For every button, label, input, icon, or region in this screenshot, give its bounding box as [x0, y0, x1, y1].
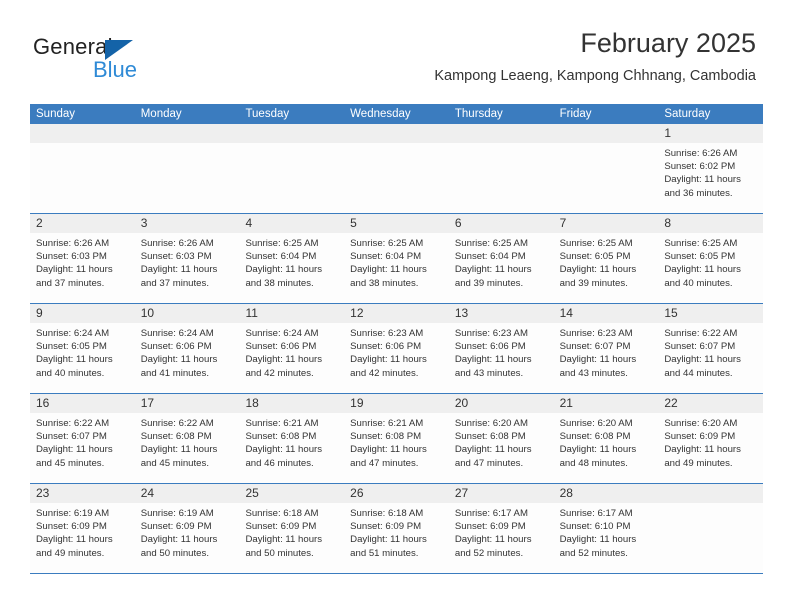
daylight-duration-line-2: and 41 minutes. [141, 367, 234, 380]
day-number: 5 [344, 214, 449, 233]
sunset-time: Sunset: 6:08 PM [560, 430, 653, 443]
day-number-band: 14 [554, 304, 659, 323]
day-number: 22 [658, 394, 763, 413]
calendar-day-cell[interactable]: 18Sunrise: 6:21 AMSunset: 6:08 PMDayligh… [239, 394, 344, 483]
calendar-day-cell[interactable]: 27Sunrise: 6:17 AMSunset: 6:09 PMDayligh… [449, 484, 554, 573]
daylight-duration-line-2: and 42 minutes. [245, 367, 338, 380]
day-number: 20 [449, 394, 554, 413]
sunset-time: Sunset: 6:09 PM [245, 520, 338, 533]
day-sun-info: Sunrise: 6:18 AMSunset: 6:09 PMDaylight:… [239, 503, 344, 560]
sunrise-time: Sunrise: 6:24 AM [36, 327, 129, 340]
day-number: 1 [658, 124, 763, 143]
calendar-day-cell[interactable]: 26Sunrise: 6:18 AMSunset: 6:09 PMDayligh… [344, 484, 449, 573]
sunrise-time: Sunrise: 6:18 AM [245, 507, 338, 520]
daylight-duration-line-1: Daylight: 11 hours [560, 533, 653, 546]
calendar-grid: Sunday Monday Tuesday Wednesday Thursday… [30, 104, 763, 574]
sunrise-time: Sunrise: 6:20 AM [664, 417, 757, 430]
calendar-week-row: 2Sunrise: 6:26 AMSunset: 6:03 PMDaylight… [30, 214, 763, 304]
sunset-time: Sunset: 6:08 PM [141, 430, 234, 443]
day-sun-info: Sunrise: 6:22 AMSunset: 6:07 PMDaylight:… [658, 323, 763, 380]
daylight-duration-line-1: Daylight: 11 hours [141, 353, 234, 366]
sunrise-time: Sunrise: 6:25 AM [560, 237, 653, 250]
day-number-band: 12 [344, 304, 449, 323]
day-number-band: 28 [554, 484, 659, 503]
day-number-band: 21 [554, 394, 659, 413]
daylight-duration-line-2: and 48 minutes. [560, 457, 653, 470]
calendar-week-row: 23Sunrise: 6:19 AMSunset: 6:09 PMDayligh… [30, 484, 763, 574]
day-number-band [554, 124, 659, 143]
day-number: 6 [449, 214, 554, 233]
sunrise-time: Sunrise: 6:22 AM [664, 327, 757, 340]
weekday-header-monday: Monday [135, 104, 240, 124]
weekday-header-wednesday: Wednesday [344, 104, 449, 124]
day-number: 23 [30, 484, 135, 503]
daylight-duration-line-1: Daylight: 11 hours [455, 263, 548, 276]
day-number: 8 [658, 214, 763, 233]
day-number-band: 15 [658, 304, 763, 323]
day-number: 26 [344, 484, 449, 503]
sunset-time: Sunset: 6:02 PM [664, 160, 757, 173]
daylight-duration-line-2: and 45 minutes. [141, 457, 234, 470]
sunrise-time: Sunrise: 6:26 AM [141, 237, 234, 250]
sunset-time: Sunset: 6:09 PM [350, 520, 443, 533]
daylight-duration-line-2: and 38 minutes. [245, 277, 338, 290]
sunset-time: Sunset: 6:07 PM [36, 430, 129, 443]
sunrise-time: Sunrise: 6:20 AM [455, 417, 548, 430]
sunset-time: Sunset: 6:03 PM [36, 250, 129, 263]
calendar-day-cell[interactable]: 5Sunrise: 6:25 AMSunset: 6:04 PMDaylight… [344, 214, 449, 303]
day-sun-info: Sunrise: 6:23 AMSunset: 6:07 PMDaylight:… [554, 323, 659, 380]
sunset-time: Sunset: 6:09 PM [141, 520, 234, 533]
day-number-band: 9 [30, 304, 135, 323]
calendar-day-cell[interactable]: 21Sunrise: 6:20 AMSunset: 6:08 PMDayligh… [554, 394, 659, 483]
daylight-duration-line-1: Daylight: 11 hours [664, 443, 757, 456]
day-number: 25 [239, 484, 344, 503]
day-sun-info: Sunrise: 6:20 AMSunset: 6:09 PMDaylight:… [658, 413, 763, 470]
page-header: General Blue February 2025 Kampong Leaen… [0, 26, 792, 98]
sunset-time: Sunset: 6:05 PM [560, 250, 653, 263]
day-number-band: 23 [30, 484, 135, 503]
day-number-band: 24 [135, 484, 240, 503]
general-blue-logo[interactable]: General Blue [33, 34, 163, 84]
daylight-duration-line-1: Daylight: 11 hours [245, 353, 338, 366]
daylight-duration-line-2: and 39 minutes. [455, 277, 548, 290]
calendar-day-cell[interactable]: 11Sunrise: 6:24 AMSunset: 6:06 PMDayligh… [239, 304, 344, 393]
day-number-band: 11 [239, 304, 344, 323]
sunset-time: Sunset: 6:09 PM [664, 430, 757, 443]
weekday-header-saturday: Saturday [658, 104, 763, 124]
calendar-day-cell[interactable]: 12Sunrise: 6:23 AMSunset: 6:06 PMDayligh… [344, 304, 449, 393]
weekday-header-row: Sunday Monday Tuesday Wednesday Thursday… [30, 104, 763, 124]
page-title: February 2025 [434, 26, 756, 60]
day-number: 3 [135, 214, 240, 233]
calendar-day-cell[interactable]: 23Sunrise: 6:19 AMSunset: 6:09 PMDayligh… [30, 484, 135, 573]
day-number: 18 [239, 394, 344, 413]
daylight-duration-line-1: Daylight: 11 hours [455, 353, 548, 366]
day-number: 21 [554, 394, 659, 413]
day-number-band: 19 [344, 394, 449, 413]
calendar-day-cell[interactable]: 9Sunrise: 6:24 AMSunset: 6:05 PMDaylight… [30, 304, 135, 393]
calendar-day-cell[interactable]: 14Sunrise: 6:23 AMSunset: 6:07 PMDayligh… [554, 304, 659, 393]
day-sun-info: Sunrise: 6:17 AMSunset: 6:10 PMDaylight:… [554, 503, 659, 560]
daylight-duration-line-2: and 39 minutes. [560, 277, 653, 290]
calendar-day-cell-empty [554, 124, 659, 213]
day-number: 14 [554, 304, 659, 323]
daylight-duration-line-2: and 47 minutes. [350, 457, 443, 470]
calendar-day-cell[interactable]: 10Sunrise: 6:24 AMSunset: 6:06 PMDayligh… [135, 304, 240, 393]
day-number-band: 26 [344, 484, 449, 503]
day-sun-info: Sunrise: 6:25 AMSunset: 6:05 PMDaylight:… [554, 233, 659, 290]
sunset-time: Sunset: 6:07 PM [664, 340, 757, 353]
day-sun-info: Sunrise: 6:17 AMSunset: 6:09 PMDaylight:… [449, 503, 554, 560]
calendar-day-cell[interactable]: 16Sunrise: 6:22 AMSunset: 6:07 PMDayligh… [30, 394, 135, 483]
sunrise-time: Sunrise: 6:25 AM [350, 237, 443, 250]
sunrise-time: Sunrise: 6:20 AM [560, 417, 653, 430]
day-number-band: 13 [449, 304, 554, 323]
calendar-week-row: 16Sunrise: 6:22 AMSunset: 6:07 PMDayligh… [30, 394, 763, 484]
calendar-day-cell[interactable]: 24Sunrise: 6:19 AMSunset: 6:09 PMDayligh… [135, 484, 240, 573]
sunrise-time: Sunrise: 6:25 AM [245, 237, 338, 250]
sunrise-time: Sunrise: 6:26 AM [664, 147, 757, 160]
sunrise-time: Sunrise: 6:21 AM [350, 417, 443, 430]
daylight-duration-line-2: and 46 minutes. [245, 457, 338, 470]
sunset-time: Sunset: 6:05 PM [664, 250, 757, 263]
day-sun-info: Sunrise: 6:23 AMSunset: 6:06 PMDaylight:… [344, 323, 449, 380]
daylight-duration-line-2: and 37 minutes. [36, 277, 129, 290]
day-number-band: 22 [658, 394, 763, 413]
weekday-header-friday: Friday [554, 104, 659, 124]
day-number-band [344, 124, 449, 143]
day-sun-info: Sunrise: 6:20 AMSunset: 6:08 PMDaylight:… [449, 413, 554, 470]
day-number-band [30, 124, 135, 143]
sunset-time: Sunset: 6:07 PM [560, 340, 653, 353]
calendar-day-cell-empty [30, 124, 135, 213]
sunset-time: Sunset: 6:09 PM [36, 520, 129, 533]
daylight-duration-line-2: and 40 minutes. [664, 277, 757, 290]
calendar-day-cell[interactable]: 15Sunrise: 6:22 AMSunset: 6:07 PMDayligh… [658, 304, 763, 393]
title-block: February 2025 Kampong Leaeng, Kampong Ch… [434, 26, 756, 85]
day-number-band: 4 [239, 214, 344, 233]
daylight-duration-line-1: Daylight: 11 hours [245, 533, 338, 546]
day-number: 7 [554, 214, 659, 233]
daylight-duration-line-1: Daylight: 11 hours [36, 263, 129, 276]
day-sun-info: Sunrise: 6:20 AMSunset: 6:08 PMDaylight:… [554, 413, 659, 470]
calendar-day-cell[interactable]: 25Sunrise: 6:18 AMSunset: 6:09 PMDayligh… [239, 484, 344, 573]
day-number: 13 [449, 304, 554, 323]
calendar-day-cell-empty [658, 484, 763, 573]
day-number-band: 20 [449, 394, 554, 413]
day-number-band: 2 [30, 214, 135, 233]
day-number-band: 16 [30, 394, 135, 413]
day-number-band: 27 [449, 484, 554, 503]
daylight-duration-line-1: Daylight: 11 hours [350, 353, 443, 366]
daylight-duration-line-1: Daylight: 11 hours [455, 443, 548, 456]
calendar-day-cell[interactable]: 13Sunrise: 6:23 AMSunset: 6:06 PMDayligh… [449, 304, 554, 393]
daylight-duration-line-2: and 47 minutes. [455, 457, 548, 470]
calendar-day-cell[interactable]: 22Sunrise: 6:20 AMSunset: 6:09 PMDayligh… [658, 394, 763, 483]
daylight-duration-line-2: and 43 minutes. [560, 367, 653, 380]
day-sun-info: Sunrise: 6:26 AMSunset: 6:03 PMDaylight:… [30, 233, 135, 290]
day-sun-info: Sunrise: 6:18 AMSunset: 6:09 PMDaylight:… [344, 503, 449, 560]
day-number-band: 25 [239, 484, 344, 503]
daylight-duration-line-1: Daylight: 11 hours [141, 533, 234, 546]
day-sun-info: Sunrise: 6:21 AMSunset: 6:08 PMDaylight:… [239, 413, 344, 470]
day-number: 28 [554, 484, 659, 503]
sunrise-time: Sunrise: 6:24 AM [141, 327, 234, 340]
day-number: 16 [30, 394, 135, 413]
calendar-weeks: 1Sunrise: 6:26 AMSunset: 6:02 PMDaylight… [30, 124, 763, 574]
day-number-band [449, 124, 554, 143]
sunrise-time: Sunrise: 6:23 AM [560, 327, 653, 340]
day-sun-info: Sunrise: 6:25 AMSunset: 6:04 PMDaylight:… [449, 233, 554, 290]
sunrise-time: Sunrise: 6:26 AM [36, 237, 129, 250]
sunset-time: Sunset: 6:05 PM [36, 340, 129, 353]
day-sun-info: Sunrise: 6:24 AMSunset: 6:06 PMDaylight:… [239, 323, 344, 380]
daylight-duration-line-2: and 40 minutes. [36, 367, 129, 380]
day-sun-info: Sunrise: 6:22 AMSunset: 6:08 PMDaylight:… [135, 413, 240, 470]
weekday-header-sunday: Sunday [30, 104, 135, 124]
sunset-time: Sunset: 6:04 PM [245, 250, 338, 263]
daylight-duration-line-1: Daylight: 11 hours [36, 443, 129, 456]
sunrise-time: Sunrise: 6:17 AM [455, 507, 548, 520]
sunset-time: Sunset: 6:04 PM [455, 250, 548, 263]
daylight-duration-line-2: and 44 minutes. [664, 367, 757, 380]
daylight-duration-line-2: and 43 minutes. [455, 367, 548, 380]
sunrise-time: Sunrise: 6:19 AM [36, 507, 129, 520]
sunset-time: Sunset: 6:08 PM [350, 430, 443, 443]
day-number-band: 5 [344, 214, 449, 233]
calendar-day-cell[interactable]: 20Sunrise: 6:20 AMSunset: 6:08 PMDayligh… [449, 394, 554, 483]
daylight-duration-line-1: Daylight: 11 hours [141, 263, 234, 276]
calendar-day-cell[interactable]: 1Sunrise: 6:26 AMSunset: 6:02 PMDaylight… [658, 124, 763, 213]
daylight-duration-line-2: and 49 minutes. [36, 547, 129, 560]
day-sun-info: Sunrise: 6:19 AMSunset: 6:09 PMDaylight:… [30, 503, 135, 560]
day-number: 12 [344, 304, 449, 323]
daylight-duration-line-1: Daylight: 11 hours [455, 533, 548, 546]
daylight-duration-line-1: Daylight: 11 hours [350, 263, 443, 276]
day-number: 2 [30, 214, 135, 233]
daylight-duration-line-2: and 45 minutes. [36, 457, 129, 470]
daylight-duration-line-2: and 51 minutes. [350, 547, 443, 560]
day-number: 27 [449, 484, 554, 503]
calendar-day-cell[interactable]: 2Sunrise: 6:26 AMSunset: 6:03 PMDaylight… [30, 214, 135, 303]
sunrise-time: Sunrise: 6:22 AM [141, 417, 234, 430]
daylight-duration-line-1: Daylight: 11 hours [245, 443, 338, 456]
day-sun-info: Sunrise: 6:25 AMSunset: 6:04 PMDaylight:… [239, 233, 344, 290]
daylight-duration-line-1: Daylight: 11 hours [560, 353, 653, 366]
day-sun-info: Sunrise: 6:26 AMSunset: 6:02 PMDaylight:… [658, 143, 763, 200]
sunrise-time: Sunrise: 6:19 AM [141, 507, 234, 520]
day-number-band [658, 484, 763, 503]
calendar-week-row: 1Sunrise: 6:26 AMSunset: 6:02 PMDaylight… [30, 124, 763, 214]
sunrise-time: Sunrise: 6:23 AM [455, 327, 548, 340]
daylight-duration-line-2: and 36 minutes. [664, 187, 757, 200]
calendar-day-cell[interactable]: 3Sunrise: 6:26 AMSunset: 6:03 PMDaylight… [135, 214, 240, 303]
day-number: 15 [658, 304, 763, 323]
day-number-band: 1 [658, 124, 763, 143]
day-sun-info: Sunrise: 6:21 AMSunset: 6:08 PMDaylight:… [344, 413, 449, 470]
day-number: 24 [135, 484, 240, 503]
calendar-week-row: 9Sunrise: 6:24 AMSunset: 6:05 PMDaylight… [30, 304, 763, 394]
sunset-time: Sunset: 6:04 PM [350, 250, 443, 263]
day-sun-info: Sunrise: 6:25 AMSunset: 6:05 PMDaylight:… [658, 233, 763, 290]
day-number-band [239, 124, 344, 143]
logo-text-blue: Blue [93, 57, 137, 83]
sunrise-time: Sunrise: 6:24 AM [245, 327, 338, 340]
day-number: 10 [135, 304, 240, 323]
calendar-day-cell-empty [135, 124, 240, 213]
daylight-duration-line-2: and 52 minutes. [560, 547, 653, 560]
day-number-band [135, 124, 240, 143]
day-sun-info: Sunrise: 6:22 AMSunset: 6:07 PMDaylight:… [30, 413, 135, 470]
daylight-duration-line-1: Daylight: 11 hours [350, 533, 443, 546]
sunset-time: Sunset: 6:06 PM [350, 340, 443, 353]
day-number: 19 [344, 394, 449, 413]
calendar-day-cell[interactable]: 7Sunrise: 6:25 AMSunset: 6:05 PMDaylight… [554, 214, 659, 303]
sunrise-time: Sunrise: 6:18 AM [350, 507, 443, 520]
daylight-duration-line-1: Daylight: 11 hours [664, 173, 757, 186]
daylight-duration-line-2: and 38 minutes. [350, 277, 443, 290]
weekday-header-tuesday: Tuesday [239, 104, 344, 124]
daylight-duration-line-1: Daylight: 11 hours [36, 353, 129, 366]
sunset-time: Sunset: 6:06 PM [245, 340, 338, 353]
day-number: 17 [135, 394, 240, 413]
calendar-day-cell-empty [239, 124, 344, 213]
sunset-time: Sunset: 6:10 PM [560, 520, 653, 533]
day-sun-info: Sunrise: 6:26 AMSunset: 6:03 PMDaylight:… [135, 233, 240, 290]
calendar-day-cell[interactable]: 17Sunrise: 6:22 AMSunset: 6:08 PMDayligh… [135, 394, 240, 483]
sunset-time: Sunset: 6:03 PM [141, 250, 234, 263]
day-number: 9 [30, 304, 135, 323]
day-number: 4 [239, 214, 344, 233]
day-number-band: 18 [239, 394, 344, 413]
daylight-duration-line-1: Daylight: 11 hours [664, 263, 757, 276]
calendar-day-cell[interactable]: 8Sunrise: 6:25 AMSunset: 6:05 PMDaylight… [658, 214, 763, 303]
sunset-time: Sunset: 6:06 PM [141, 340, 234, 353]
daylight-duration-line-1: Daylight: 11 hours [664, 353, 757, 366]
sunset-time: Sunset: 6:09 PM [455, 520, 548, 533]
sunrise-time: Sunrise: 6:21 AM [245, 417, 338, 430]
day-sun-info: Sunrise: 6:24 AMSunset: 6:06 PMDaylight:… [135, 323, 240, 380]
daylight-duration-line-2: and 37 minutes. [141, 277, 234, 290]
sunrise-time: Sunrise: 6:23 AM [350, 327, 443, 340]
daylight-duration-line-1: Daylight: 11 hours [245, 263, 338, 276]
day-number-band: 8 [658, 214, 763, 233]
daylight-duration-line-1: Daylight: 11 hours [350, 443, 443, 456]
day-sun-info: Sunrise: 6:23 AMSunset: 6:06 PMDaylight:… [449, 323, 554, 380]
calendar-page: General Blue February 2025 Kampong Leaen… [0, 0, 792, 612]
sunrise-time: Sunrise: 6:17 AM [560, 507, 653, 520]
daylight-duration-line-2: and 50 minutes. [141, 547, 234, 560]
calendar-day-cell-empty [449, 124, 554, 213]
daylight-duration-line-1: Daylight: 11 hours [560, 263, 653, 276]
day-sun-info: Sunrise: 6:25 AMSunset: 6:04 PMDaylight:… [344, 233, 449, 290]
day-number: 11 [239, 304, 344, 323]
day-number-band: 6 [449, 214, 554, 233]
sunset-time: Sunset: 6:06 PM [455, 340, 548, 353]
daylight-duration-line-1: Daylight: 11 hours [36, 533, 129, 546]
day-number-band: 17 [135, 394, 240, 413]
day-number-band: 7 [554, 214, 659, 233]
daylight-duration-line-2: and 50 minutes. [245, 547, 338, 560]
calendar-day-cell[interactable]: 6Sunrise: 6:25 AMSunset: 6:04 PMDaylight… [449, 214, 554, 303]
calendar-day-cell[interactable]: 19Sunrise: 6:21 AMSunset: 6:08 PMDayligh… [344, 394, 449, 483]
day-sun-info: Sunrise: 6:24 AMSunset: 6:05 PMDaylight:… [30, 323, 135, 380]
sunrise-time: Sunrise: 6:25 AM [455, 237, 548, 250]
daylight-duration-line-2: and 49 minutes. [664, 457, 757, 470]
calendar-day-cell[interactable]: 4Sunrise: 6:25 AMSunset: 6:04 PMDaylight… [239, 214, 344, 303]
daylight-duration-line-1: Daylight: 11 hours [141, 443, 234, 456]
calendar-day-cell-empty [344, 124, 449, 213]
sunset-time: Sunset: 6:08 PM [455, 430, 548, 443]
day-number-band: 10 [135, 304, 240, 323]
daylight-duration-line-1: Daylight: 11 hours [560, 443, 653, 456]
sunset-time: Sunset: 6:08 PM [245, 430, 338, 443]
day-sun-info: Sunrise: 6:19 AMSunset: 6:09 PMDaylight:… [135, 503, 240, 560]
weekday-header-thursday: Thursday [449, 104, 554, 124]
calendar-day-cell[interactable]: 28Sunrise: 6:17 AMSunset: 6:10 PMDayligh… [554, 484, 659, 573]
sunrise-time: Sunrise: 6:22 AM [36, 417, 129, 430]
daylight-duration-line-2: and 42 minutes. [350, 367, 443, 380]
page-subtitle: Kampong Leaeng, Kampong Chhnang, Cambodi… [434, 67, 756, 85]
daylight-duration-line-2: and 52 minutes. [455, 547, 548, 560]
day-number-band: 3 [135, 214, 240, 233]
sunrise-time: Sunrise: 6:25 AM [664, 237, 757, 250]
